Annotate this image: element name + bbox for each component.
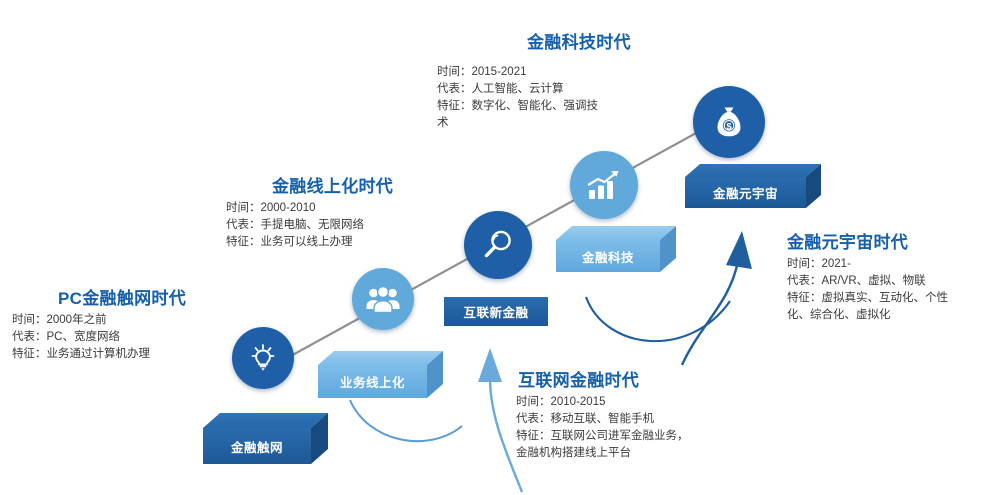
stage-box-online-label: 业务线上化: [318, 365, 427, 398]
era-line: 特征：数字化、智能化、强调技: [437, 98, 667, 115]
era-line: 代表：移动互联、智能手机: [516, 411, 766, 428]
box-top-face: [318, 351, 443, 365]
stage-box-internet[interactable]: 互联新金融: [444, 297, 548, 326]
era-line: 代表：AR/VR、虚拟、物联: [787, 273, 997, 290]
diagram-canvas: PC金融触网时代 时间：2000年之前 代表：PC、宽度网络 特征：业务通过计算…: [0, 0, 1000, 493]
era-body-fintech: 时间：2015-2021 代表：人工智能、云计算 特征：数字化、智能化、强调技 …: [437, 64, 667, 132]
stage-box-metaverse[interactable]: 金融元宇宙: [685, 177, 821, 208]
era-line: 时间：2015-2021: [437, 64, 667, 81]
era-line: 术: [437, 115, 667, 132]
era-icon-metaverse[interactable]: $: [693, 86, 765, 158]
era-title-metaverse: 金融元宇宙时代: [787, 228, 908, 253]
era-line: 特征：虚拟真实、互动化、个性: [787, 290, 997, 307]
era-body-metaverse: 时间：2021- 代表：AR/VR、虚拟、物联 特征：虚拟真实、互动化、个性 化…: [787, 256, 997, 324]
stage-box-fintech[interactable]: 金融科技: [556, 240, 676, 272]
era-line: 时间：2000年之前: [12, 312, 242, 329]
era-icon-pc[interactable]: [232, 327, 294, 389]
era-body-internet: 时间：2010-2015 代表：移动互联、智能手机 特征：互联网公司进军金融业务…: [516, 394, 766, 462]
era-title-fintech: 金融科技时代: [527, 28, 631, 53]
era-line: 代表：PC、宽度网络: [12, 329, 242, 346]
era-line: 代表：手提电脑、无限网络: [226, 217, 456, 234]
era-line: 化、综合化、虚拟化: [787, 307, 997, 324]
era-line: 特征：互联网公司进军金融业务，: [516, 428, 766, 445]
era-title-online: 金融线上化时代: [272, 172, 393, 197]
bar-chart-trend-icon: [585, 168, 623, 202]
era-line: 特征：业务通过计算机办理: [12, 346, 242, 363]
curve-connector-fintech: [580, 275, 760, 375]
era-body-pc: 时间：2000年之前 代表：PC、宽度网络 特征：业务通过计算机办理: [12, 312, 242, 363]
stage-box-pc-label: 金融触网: [203, 428, 311, 464]
people-group-icon: [365, 284, 401, 314]
money-bag-icon: $: [710, 103, 748, 141]
era-icon-internet[interactable]: [464, 211, 532, 279]
era-line: 代表：人工智能、云计算: [437, 81, 667, 98]
curve-arrow-metaverse: [660, 195, 770, 370]
box-top-face: [685, 164, 821, 177]
era-body-online: 时间：2000-2010 代表：手提电脑、无限网络 特征：业务可以线上办理: [226, 200, 456, 251]
lightbulb-icon: [246, 341, 280, 375]
stage-box-pc[interactable]: 金融触网: [203, 428, 328, 464]
svg-text:$: $: [726, 121, 732, 132]
stage-box-internet-label: 互联新金融: [463, 302, 528, 321]
box-top-face: [556, 226, 676, 240]
era-line: 特征：业务可以线上办理: [226, 234, 456, 251]
era-title-internet: 互联网金融时代: [518, 366, 639, 391]
era-line: 时间：2000-2010: [226, 200, 456, 217]
stage-box-metaverse-label: 金融元宇宙: [685, 177, 806, 208]
magnifier-icon: [480, 227, 516, 263]
era-icon-online[interactable]: [352, 268, 414, 330]
era-icon-fintech[interactable]: [570, 151, 638, 219]
stage-box-online[interactable]: 业务线上化: [318, 365, 443, 398]
era-line: 时间：2010-2015: [516, 394, 766, 411]
era-line: 时间：2021-: [787, 256, 997, 273]
era-title-pc: PC金融触网时代: [58, 284, 186, 309]
stage-box-fintech-label: 金融科技: [556, 240, 660, 272]
era-line: 金融机构搭建线上平台: [516, 445, 766, 462]
box-top-face: [203, 413, 328, 428]
